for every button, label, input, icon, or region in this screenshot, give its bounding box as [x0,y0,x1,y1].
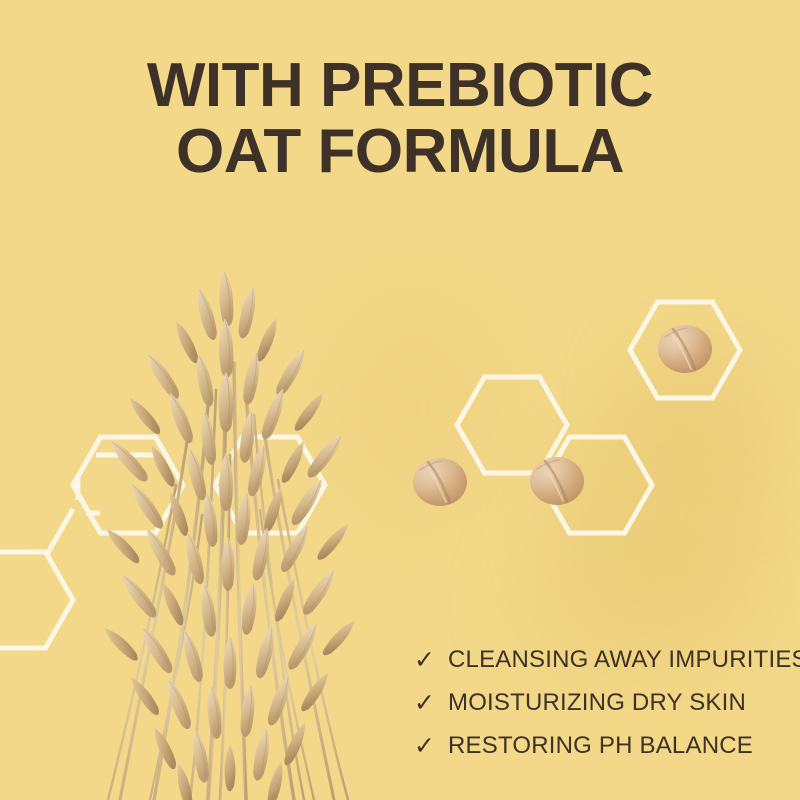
benefits-list: ✓ CLEANSING AWAY IMPURITIES ✓ MOISTURIZI… [414,638,794,767]
hex-left-edge [0,552,73,648]
check-icon: ✓ [414,690,448,715]
hex-center [457,377,567,473]
headline-line-1: WITH PREBIOTIC [0,56,800,117]
background-shadow-blob [330,300,500,520]
benefit-label: CLEANSING AWAY IMPURITIES [448,646,800,674]
benefit-item: ✓ MOISTURIZING DRY SKIN [414,681,794,724]
background-shadow-blob [560,380,770,630]
hex-top-right [630,302,740,398]
hex-left [73,437,183,533]
background-shadow-blob [630,330,780,500]
hex-connector [46,509,73,556]
benefit-label: RESTORING PH BALANCE [448,732,753,760]
hex-mid-left [215,437,325,533]
hex-mid-grain [413,458,467,506]
poster-canvas: WITH PREBIOTIC OAT FORMULA ✓ CLEANSING A… [0,0,800,800]
oat-stalk-bouquet-image [58,255,408,800]
check-icon: ✓ [414,647,448,672]
headline: WITH PREBIOTIC OAT FORMULA [0,56,800,183]
benefit-item: ✓ RESTORING PH BALANCE [414,724,794,767]
hex-lower-center [530,437,652,533]
benefit-label: MOISTURIZING DRY SKIN [448,689,746,717]
headline-line-2: OAT FORMULA [0,122,800,183]
check-icon: ✓ [414,733,448,758]
hex-left-inner [78,455,155,513]
benefit-item: ✓ CLEANSING AWAY IMPURITIES [414,638,794,681]
